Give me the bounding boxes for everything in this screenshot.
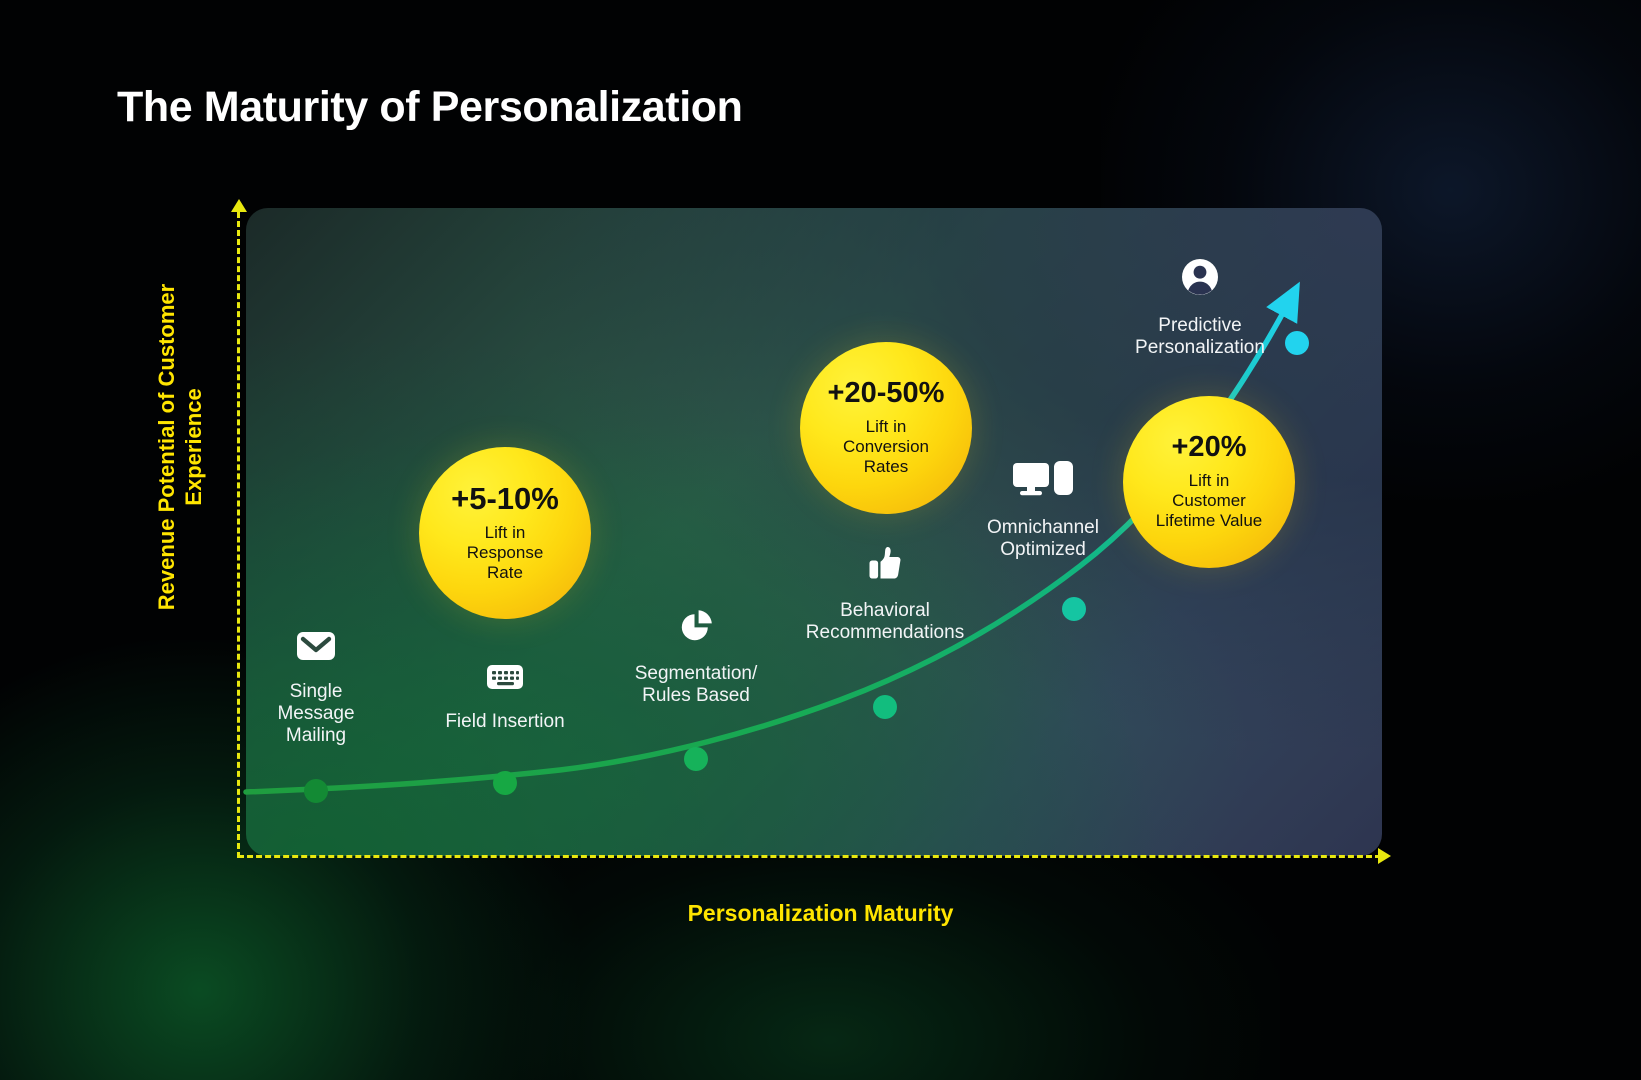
infographic-canvas: The Maturity of Personalization Revenue …: [0, 0, 1641, 1080]
y-axis-line: [237, 212, 240, 858]
stage-segmentation-rules-based: Segmentation/ Rules Based: [606, 608, 786, 707]
stage-label: Segmentation/ Rules Based: [606, 663, 786, 707]
x-axis-arrow-icon: [1378, 848, 1391, 864]
stat-caption: Lift in Conversion Rates: [843, 417, 929, 477]
stat-bubble-lift-conversion-rates: +20-50% Lift in Conversion Rates: [800, 342, 972, 514]
stage-label: Field Insertion: [420, 711, 590, 733]
stat-value: +5-10%: [451, 483, 559, 514]
stage-single-message-mailing: Single Message Mailing: [236, 630, 396, 747]
page-title: The Maturity of Personalization: [117, 83, 743, 132]
stat-value: +20%: [1172, 433, 1247, 462]
x-axis-label: Personalization Maturity: [0, 900, 1641, 927]
monitor-mobile-icon: [955, 460, 1131, 503]
stat-bubble-lift-response-rate: +5-10% Lift in Response Rate: [419, 447, 591, 619]
keyboard-icon: [420, 662, 590, 697]
stage-label: Behavioral Recommendations: [775, 600, 995, 644]
stage-predictive-personalization: Predictive Personalization: [1110, 258, 1290, 359]
x-axis-line: [238, 855, 1381, 858]
stat-caption: Lift in Response Rate: [467, 523, 544, 583]
envelope-icon: [236, 630, 396, 667]
stat-value: +20-50%: [828, 379, 945, 408]
stat-caption: Lift in Customer Lifetime Value: [1156, 471, 1262, 531]
stage-field-insertion: Field Insertion: [420, 662, 590, 733]
pie-chart-icon: [606, 608, 786, 649]
y-axis-arrow-icon: [231, 199, 247, 212]
stage-label: Single Message Mailing: [236, 681, 396, 747]
stage-label: Omnichannel Optimized: [955, 517, 1131, 561]
stage-omnichannel-optimized: Omnichannel Optimized: [955, 460, 1131, 561]
stage-label: Predictive Personalization: [1110, 315, 1290, 359]
user-profile-icon: [1110, 258, 1290, 301]
y-axis-label: Revenue Potential of Customer Experience: [153, 262, 207, 632]
stat-bubble-lift-customer-lifetime-value: +20% Lift in Customer Lifetime Value: [1123, 396, 1295, 568]
